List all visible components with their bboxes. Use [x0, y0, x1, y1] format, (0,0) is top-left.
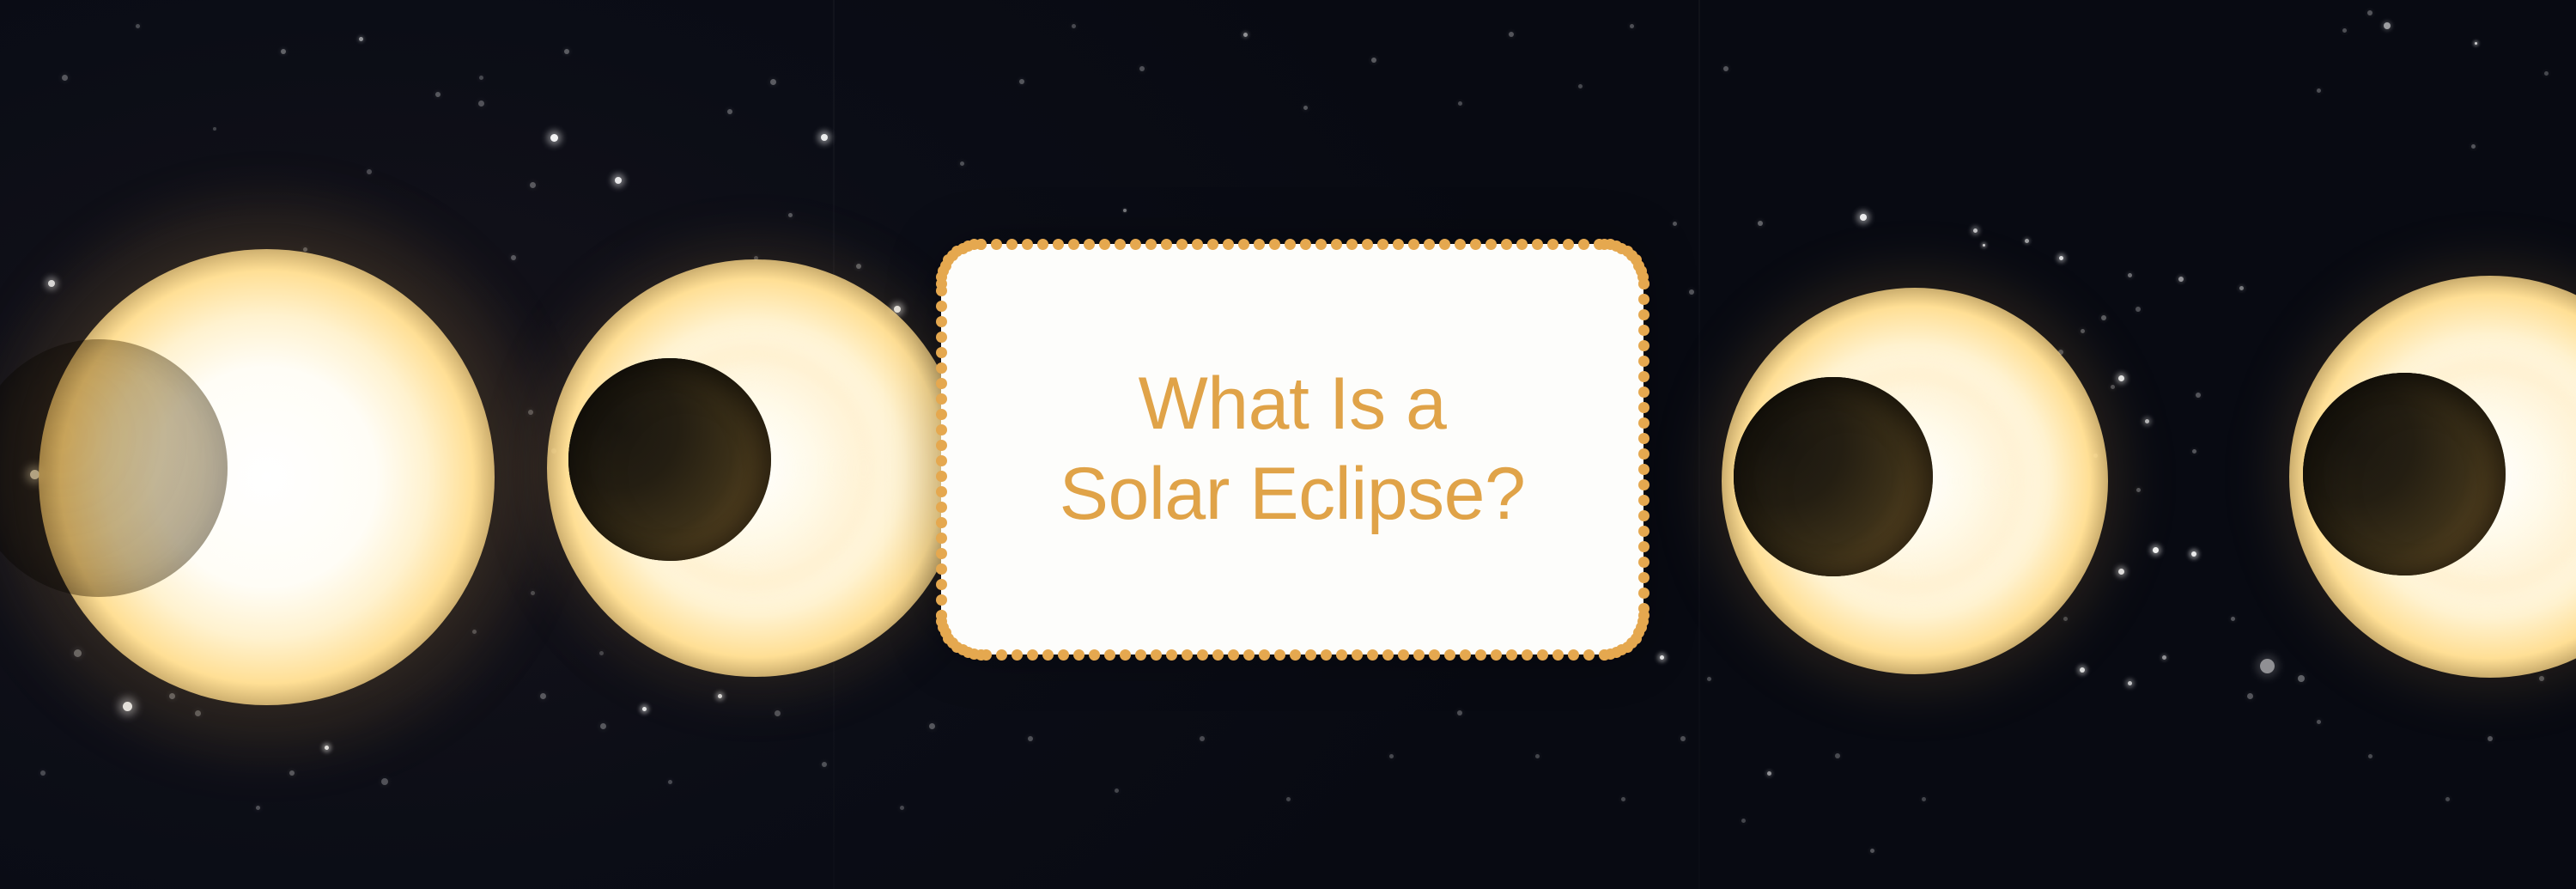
- sun-halo: [2267, 253, 2576, 700]
- page-title-line-1: What Is a: [1139, 359, 1447, 449]
- title-card-content: What Is a Solar Eclipse?: [941, 244, 1643, 655]
- eclipse-banner: What Is a Solar Eclipse?: [0, 0, 2576, 889]
- sun-disc: [2289, 276, 2576, 678]
- title-card: What Is a Solar Eclipse?: [941, 244, 1643, 655]
- moon-disc: [2303, 373, 2506, 575]
- page-title-line-2: Solar Eclipse?: [1060, 449, 1526, 539]
- sun-rim-highlight: [2299, 368, 2510, 580]
